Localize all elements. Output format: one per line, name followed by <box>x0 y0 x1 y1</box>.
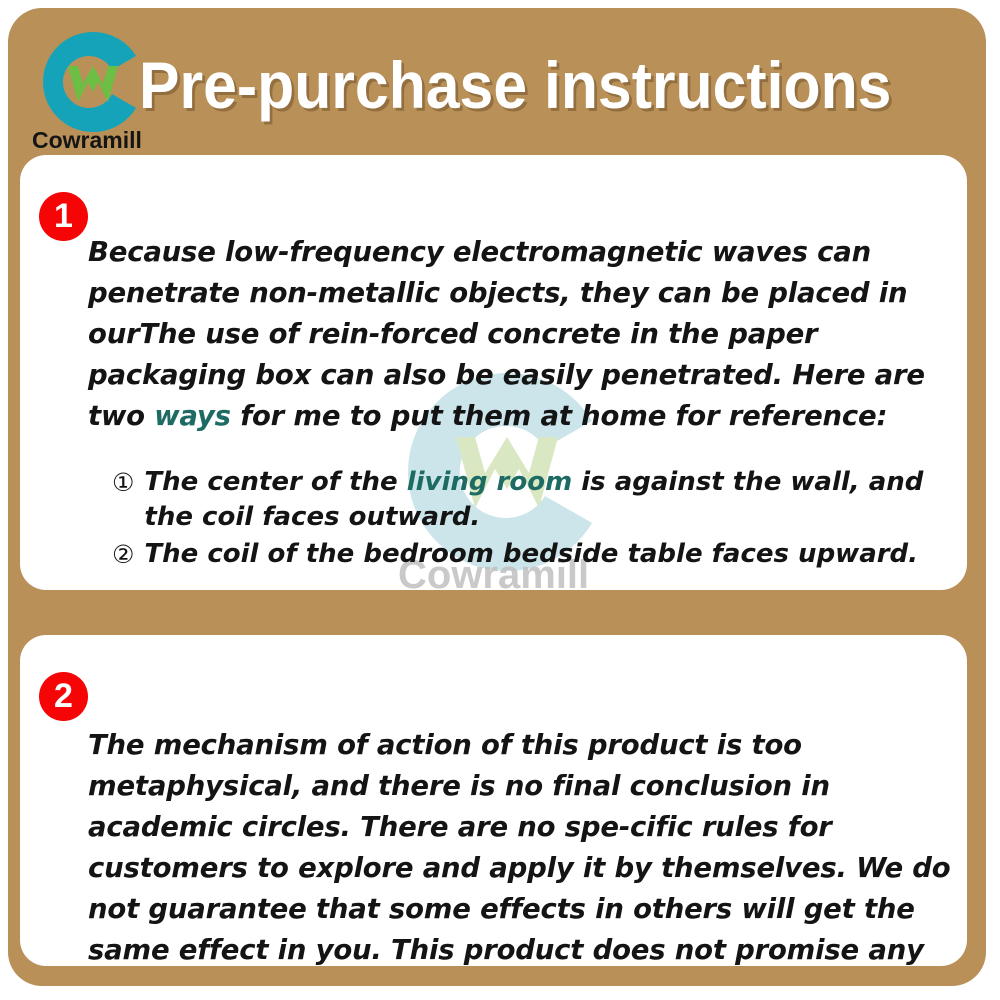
sublist-item: ① The center of the living room is again… <box>112 465 962 535</box>
brand-name: Cowramill <box>32 127 142 154</box>
sublist-item: ② The coil of the bedroom bedside table … <box>112 537 962 572</box>
card-1-paragraph-post: for me to put them at home for reference… <box>231 400 887 432</box>
card-1-paragraph-highlight: ways <box>154 400 231 432</box>
circled-number-2-icon: ② <box>112 537 134 572</box>
card-2-paragraph: The mechanism of action of this product … <box>88 725 958 966</box>
infographic-page: Cowramill Pre-purchase instructions Cowr… <box>0 0 1000 1000</box>
sublist-item-pre: The coil of the bedroom bedside table fa… <box>144 539 918 569</box>
step-badge-2: 2 <box>39 672 88 721</box>
sublist-item-pre: The center of the <box>144 467 406 497</box>
instruction-card-2: 2 The mechanism of action of this produc… <box>20 635 967 966</box>
instruction-card-1: Cowramill 1 Because low-frequency electr… <box>20 155 967 590</box>
sublist-item-highlight: living room <box>407 467 573 497</box>
card-2-paragraph-pre: The mechanism of action of this product … <box>88 729 951 966</box>
header: Cowramill Pre-purchase instructions <box>8 8 986 163</box>
circled-number-1-icon: ① <box>112 465 134 500</box>
cowramill-c-w-logo-icon <box>32 26 154 138</box>
card-1-sublist: ① The center of the living room is again… <box>112 465 962 572</box>
sublist-item-text: The coil of the bedroom bedside table fa… <box>144 537 962 572</box>
sublist-item-text: The center of the living room is against… <box>144 465 962 535</box>
card-1-paragraph: Because low-frequency electromagnetic wa… <box>88 232 956 437</box>
page-title: Pre-purchase instructions <box>139 52 891 118</box>
step-badge-1: 1 <box>39 192 88 241</box>
